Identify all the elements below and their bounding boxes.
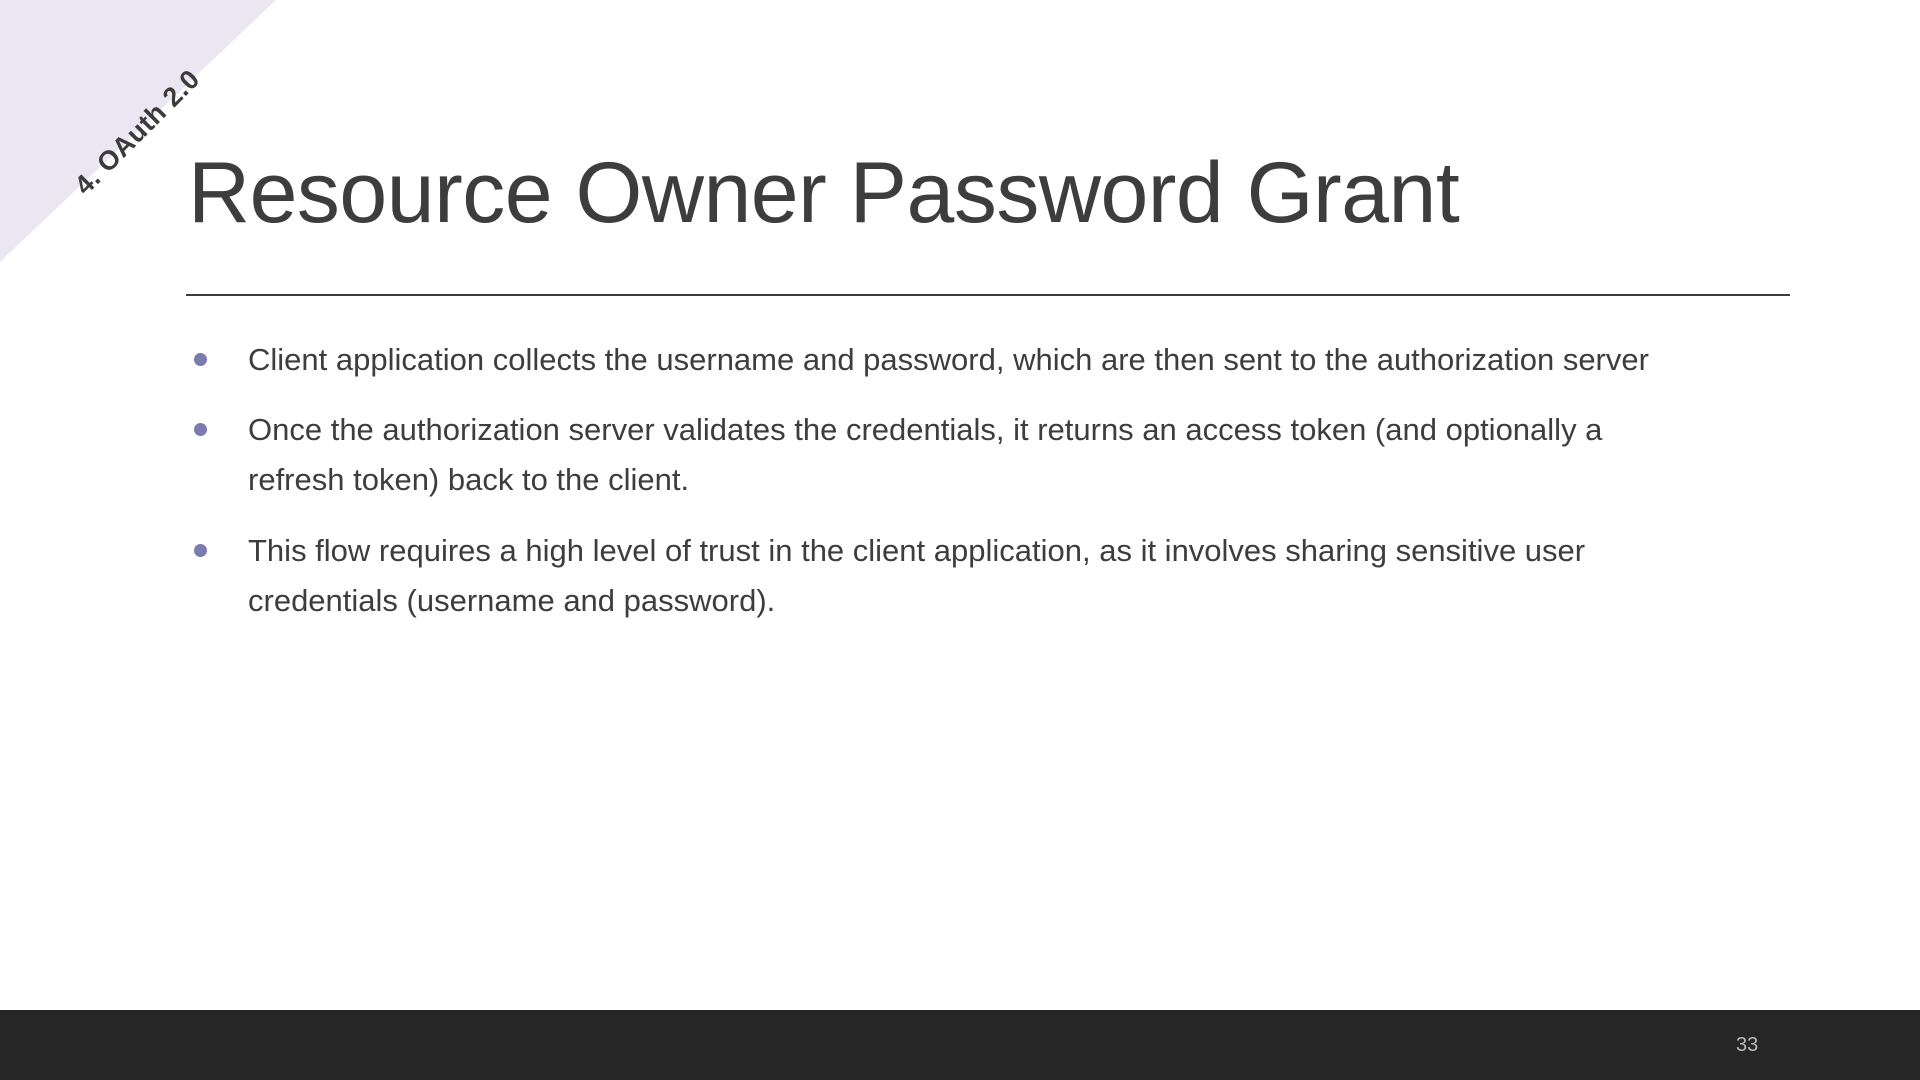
list-item-text: Once the authorization server validates … <box>248 405 1678 505</box>
footer-bar <box>0 1010 1920 1080</box>
bullet-dot-icon <box>194 353 207 366</box>
bullet-dot-icon <box>194 544 207 557</box>
bullet-list: Client application collects the username… <box>186 335 1806 646</box>
bullet-marker-cell <box>186 526 248 557</box>
bullet-dot-icon <box>194 423 207 436</box>
bullet-marker-cell <box>186 405 248 436</box>
list-item-text: Client application collects the username… <box>248 335 1678 385</box>
page-title: Resource Owner Password Grant <box>188 150 1808 236</box>
bullet-marker-cell <box>186 335 248 366</box>
list-item: Client application collects the username… <box>186 335 1806 385</box>
slide-canvas: 4. OAuth 2.0 Resource Owner Password Gra… <box>0 0 1920 1080</box>
page-number: 33 <box>1736 1034 1758 1057</box>
list-item-text: This flow requires a high level of trust… <box>248 526 1678 626</box>
title-divider-rule <box>186 294 1790 296</box>
list-item: This flow requires a high level of trust… <box>186 526 1806 626</box>
list-item: Once the authorization server validates … <box>186 405 1806 505</box>
